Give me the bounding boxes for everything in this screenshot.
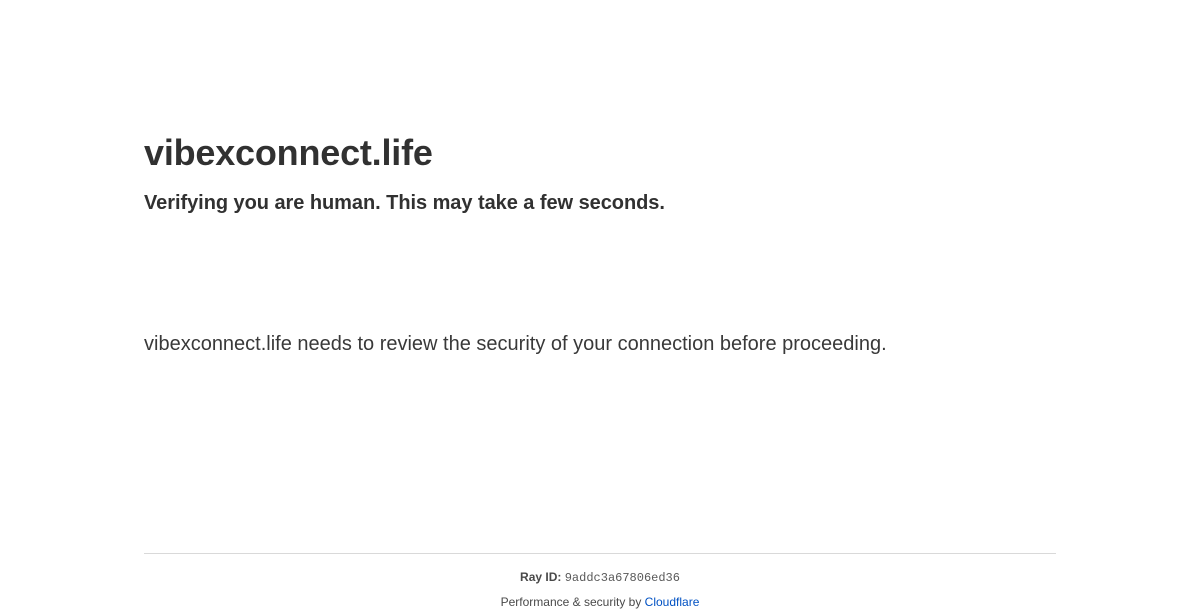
page-title: vibexconnect.life — [144, 130, 1056, 176]
footer: Ray ID: 9addc3a67806ed36 Performance & s… — [144, 553, 1056, 609]
challenge-body-text: vibexconnect.life needs to review the se… — [144, 309, 944, 362]
turnstile-widget-slot[interactable] — [144, 244, 444, 309]
ray-id-value: 9addc3a67806ed36 — [565, 571, 680, 585]
ray-id-row: Ray ID: 9addc3a67806ed36 — [144, 554, 1056, 585]
challenge-container: vibexconnect.life Verifying you are huma… — [144, 0, 1056, 600]
cloudflare-link[interactable]: Cloudflare — [645, 595, 700, 609]
attribution-text: Performance & security by — [501, 595, 642, 609]
challenge-page: vibexconnect.life Verifying you are huma… — [0, 0, 1200, 600]
attribution-row: Performance & security by Cloudflare — [144, 585, 1056, 609]
challenge-status-text: Verifying you are human. This may take a… — [144, 190, 1056, 216]
ray-id-label: Ray ID: — [520, 570, 561, 584]
challenge-main: vibexconnect.life Verifying you are huma… — [144, 130, 1056, 362]
